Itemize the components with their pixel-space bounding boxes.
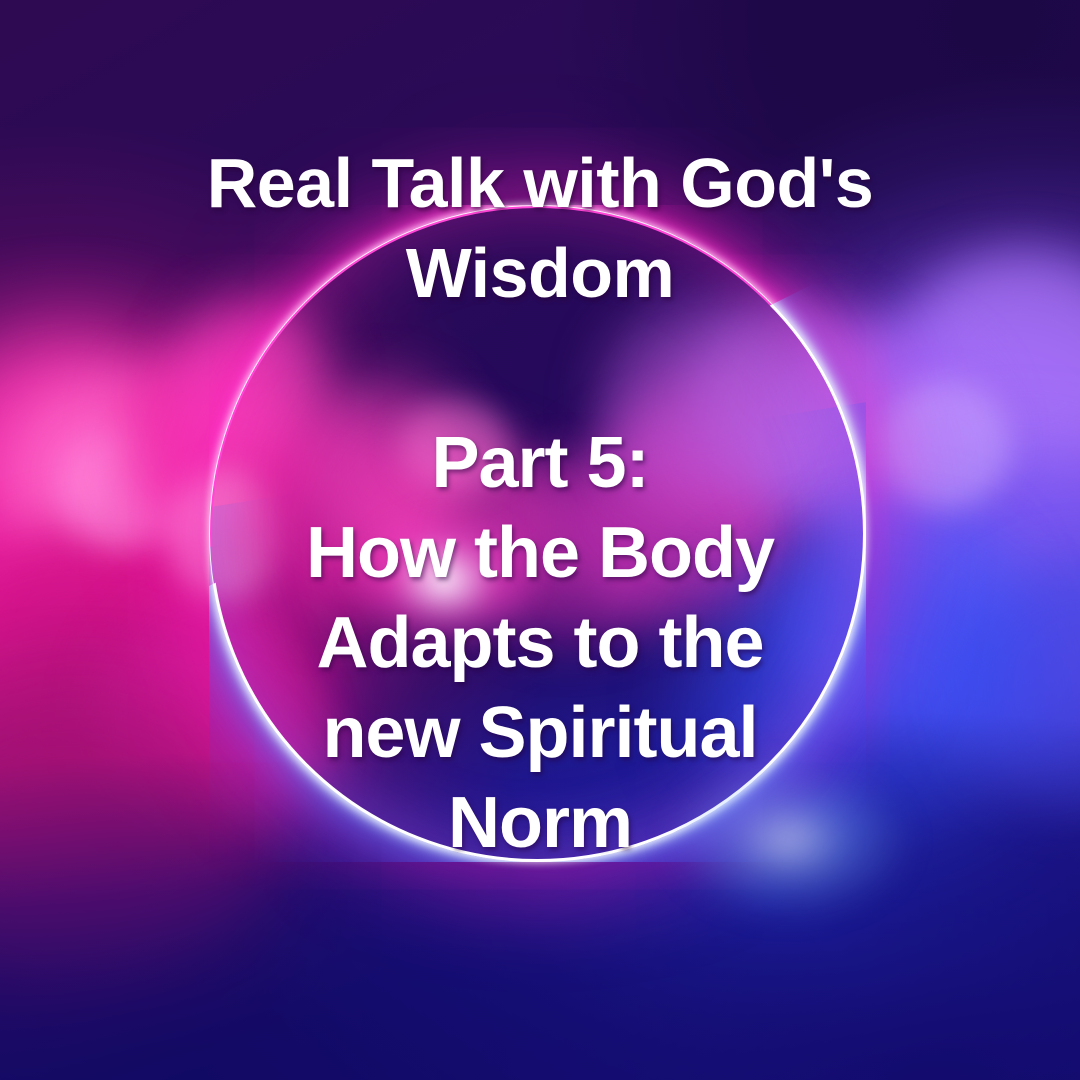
poster-canvas: Real Talk with God's Wisdom Part 5: How … <box>0 0 1080 1080</box>
subtitle-line-5: Norm <box>0 778 1080 868</box>
subtitle-line-3: Adapts to the <box>0 598 1080 688</box>
poster-subtitle: Part 5: How the Body Adapts to the new S… <box>0 418 1080 868</box>
subtitle-line-4: new Spiritual <box>0 688 1080 778</box>
subtitle-line-2: How the Body <box>0 508 1080 598</box>
poster-title: Real Talk with God's Wisdom <box>0 138 1080 318</box>
title-line-1: Real Talk with God's <box>0 138 1080 228</box>
poster-text-layer: Real Talk with God's Wisdom Part 5: How … <box>0 0 1080 1080</box>
subtitle-line-1: Part 5: <box>0 418 1080 508</box>
title-line-2: Wisdom <box>0 228 1080 318</box>
